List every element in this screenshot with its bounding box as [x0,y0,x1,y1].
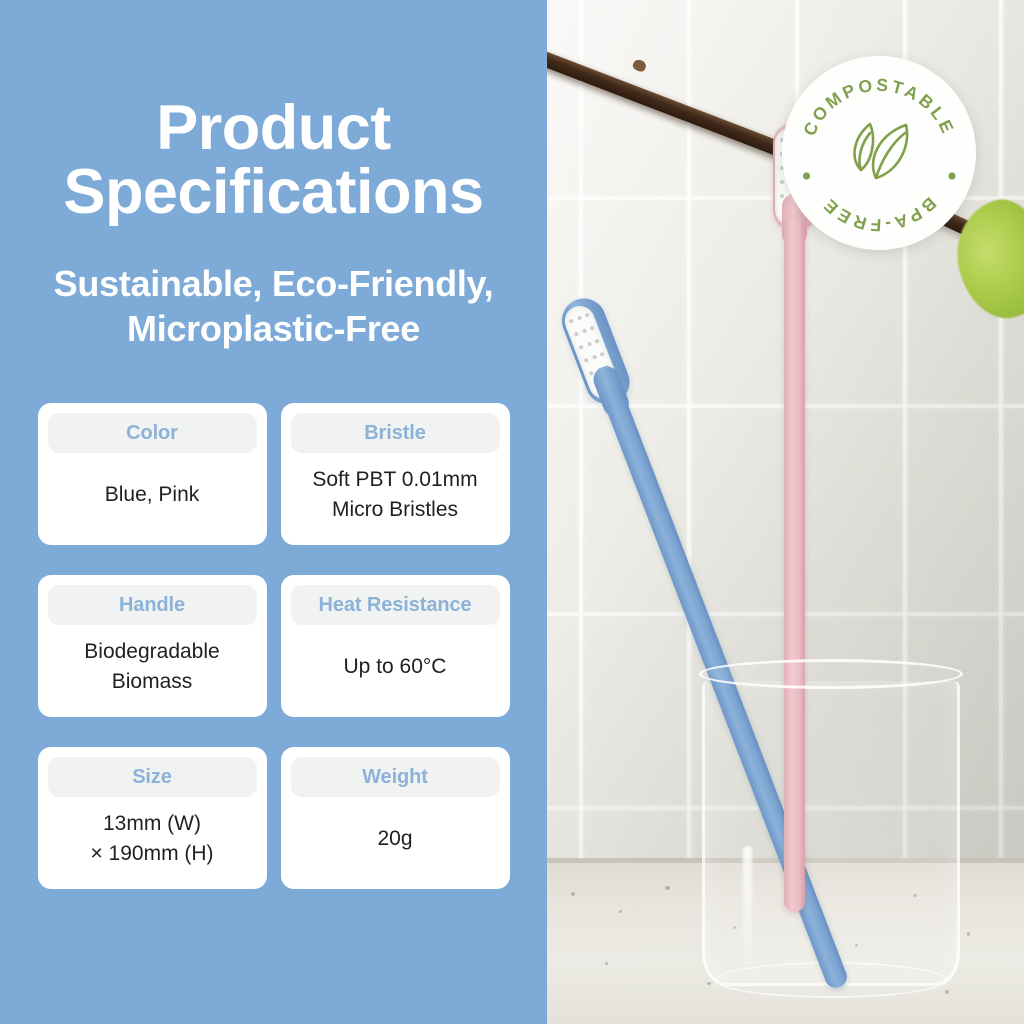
spec-label: Size [132,766,172,789]
spec-value: 13mm (W) × 190mm (H) [90,809,213,870]
brush-handle [784,218,805,912]
spec-card-header: Size [48,757,257,797]
spec-label: Bristle [364,422,426,445]
badge-bottom-text: BPA-FREE [818,193,941,235]
badge-separator-dot-right [948,172,955,179]
spec-card-color: Color Blue, Pink [38,403,267,545]
spec-label: Weight [362,766,428,789]
spec-card-header: Heat Resistance [291,585,500,625]
heading-block: Product Specifications Sustainable, Eco-… [38,0,509,351]
title-line-1: Product [38,96,509,160]
title-line-2: Specifications [38,160,509,224]
spec-card-header: Color [48,413,257,453]
spec-value-line: 13mm (W) [90,809,213,839]
spec-card-header: Weight [291,757,500,797]
compostable-bpa-free-badge: COMPOSTABLE BPA-FREE [782,56,976,250]
page-subtitle: Sustainable, Eco-Friendly, Microplastic-… [38,261,509,352]
spec-value-line: Blue, Pink [105,480,200,510]
subtitle-line-1: Sustainable, Eco-Friendly, [38,261,509,306]
badge-top-text: COMPOSTABLE [799,75,959,139]
spec-card-body: 13mm (W) × 190mm (H) [48,797,257,881]
spec-card-body: Up to 60°C [291,625,500,709]
spec-value-line: Soft PBT 0.01mm [312,465,477,495]
spec-card-size: Size 13mm (W) × 190mm (H) [38,747,267,889]
product-specifications-poster: Product Specifications Sustainable, Eco-… [0,0,1024,1024]
spec-card-body: Biodegradable Biomass [48,625,257,709]
spec-value: Blue, Pink [105,480,200,510]
spec-value-line: Up to 60°C [344,652,447,682]
spec-card-header: Bristle [291,413,500,453]
two-leaves-icon [855,124,908,178]
spec-card-body: Soft PBT 0.01mm Micro Bristles [291,453,500,537]
spec-value: Up to 60°C [344,652,447,682]
spec-card-heat-resistance: Heat Resistance Up to 60°C [281,575,510,717]
spec-card-weight: Weight 20g [281,747,510,889]
spec-value: 20g [377,824,412,854]
glass-rim [699,659,963,689]
spec-value: Biodegradable Biomass [84,637,219,698]
spec-label: Color [126,422,178,445]
page-title: Product Specifications [38,96,509,225]
spec-card-handle: Handle Biodegradable Biomass [38,575,267,717]
spec-card-body: 20g [291,797,500,881]
spec-label: Handle [119,594,185,617]
subtitle-line-2: Microplastic-Free [38,306,509,351]
glass-highlight [743,846,752,966]
spec-value-line: Biodegradable [84,637,219,667]
spec-label: Heat Resistance [318,594,471,617]
spec-card-body: Blue, Pink [48,453,257,537]
spec-value-line: Biomass [84,667,219,697]
spec-card-header: Handle [48,585,257,625]
spec-panel: Product Specifications Sustainable, Eco-… [0,0,547,1024]
spec-card-grid: Color Blue, Pink Bristle Soft PBT 0.01mm… [38,403,509,889]
badge-separator-dot-left [803,172,810,179]
spec-card-bristle: Bristle Soft PBT 0.01mm Micro Bristles [281,403,510,545]
spec-value-line: × 190mm (H) [90,839,213,869]
spec-value-line: 20g [377,824,412,854]
spec-value-line: Micro Bristles [312,495,477,525]
spec-value: Soft PBT 0.01mm Micro Bristles [312,465,477,526]
